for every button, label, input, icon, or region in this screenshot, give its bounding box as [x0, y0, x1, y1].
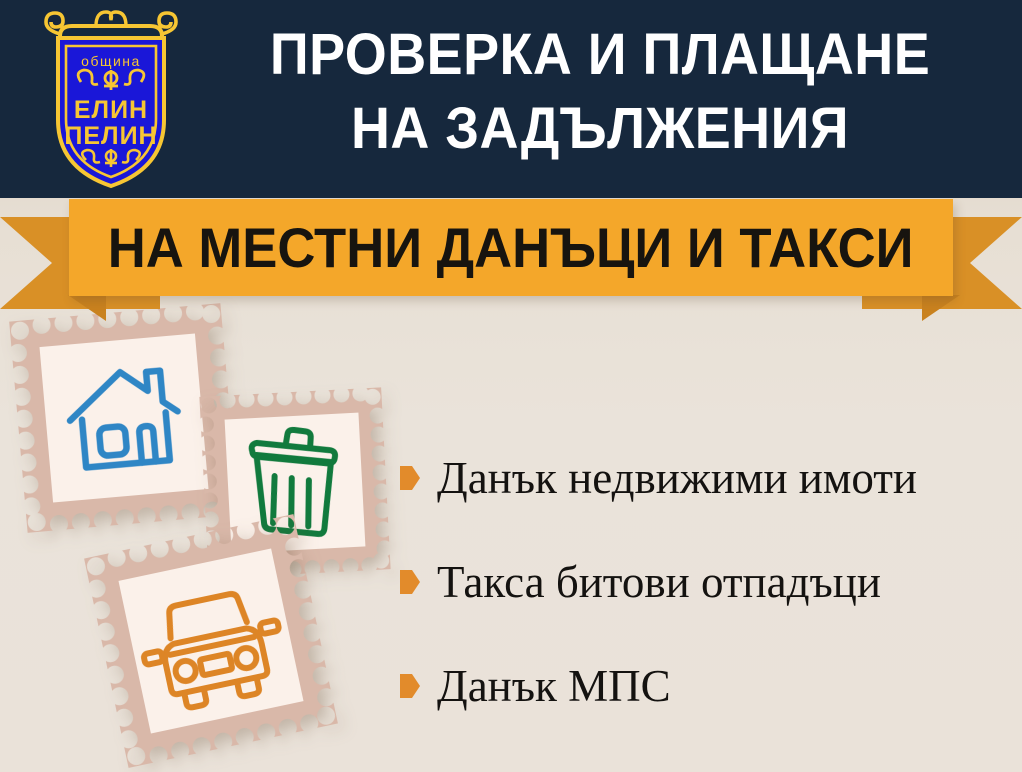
list-item-label: Такса битови отпадъци — [437, 557, 881, 607]
bullet-arrow-icon — [400, 570, 420, 594]
bullet-arrow-icon — [400, 674, 420, 698]
list-item-label: Данък недвижими имоти — [437, 453, 917, 503]
header-title-line2: НА ЗАДЪЛЖЕНИЯ — [219, 92, 982, 166]
municipality-logo: община ЕЛИН ПЕЛИН — [36, 8, 186, 190]
list-item[interactable]: Данък МПС — [400, 634, 1015, 738]
bullet-arrow-icon — [400, 466, 420, 490]
tax-type-list: Данък недвижими имоти Такса битови отпад… — [400, 426, 1015, 738]
elin-pelin-coat-of-arms-icon: община ЕЛИН ПЕЛИН — [36, 8, 186, 190]
list-item[interactable]: Данък недвижими имоти — [400, 426, 1015, 530]
car-stamp-graphic — [84, 514, 338, 768]
header-bar: община ЕЛИН ПЕЛИН — [0, 0, 1022, 198]
header-title-line1: ПРОВЕРКА И ПЛАЩАНЕ — [219, 18, 982, 92]
poster-root: община ЕЛИН ПЕЛИН — [0, 0, 1022, 772]
svg-text:община: община — [81, 53, 141, 69]
svg-text:ЕЛИН: ЕЛИН — [74, 96, 148, 124]
ribbon-banner: НА МЕСТНИ ДАНЪЦИ И ТАКСИ — [0, 199, 1022, 309]
ribbon-label: НА МЕСТНИ ДАНЪЦИ И ТАКСИ — [108, 219, 914, 277]
ribbon-main-panel: НА МЕСТНИ ДАНЪЦИ И ТАКСИ — [69, 199, 953, 296]
list-item-label: Данък МПС — [437, 661, 671, 711]
svg-text:ПЕЛИН: ПЕЛИН — [64, 122, 157, 150]
list-item[interactable]: Такса битови отпадъци — [400, 530, 1015, 634]
car-stamp — [84, 514, 338, 768]
header-title-block: ПРОВЕРКА И ПЛАЩАНЕ НА ЗАДЪЛЖЕНИЯ — [190, 18, 1010, 166]
